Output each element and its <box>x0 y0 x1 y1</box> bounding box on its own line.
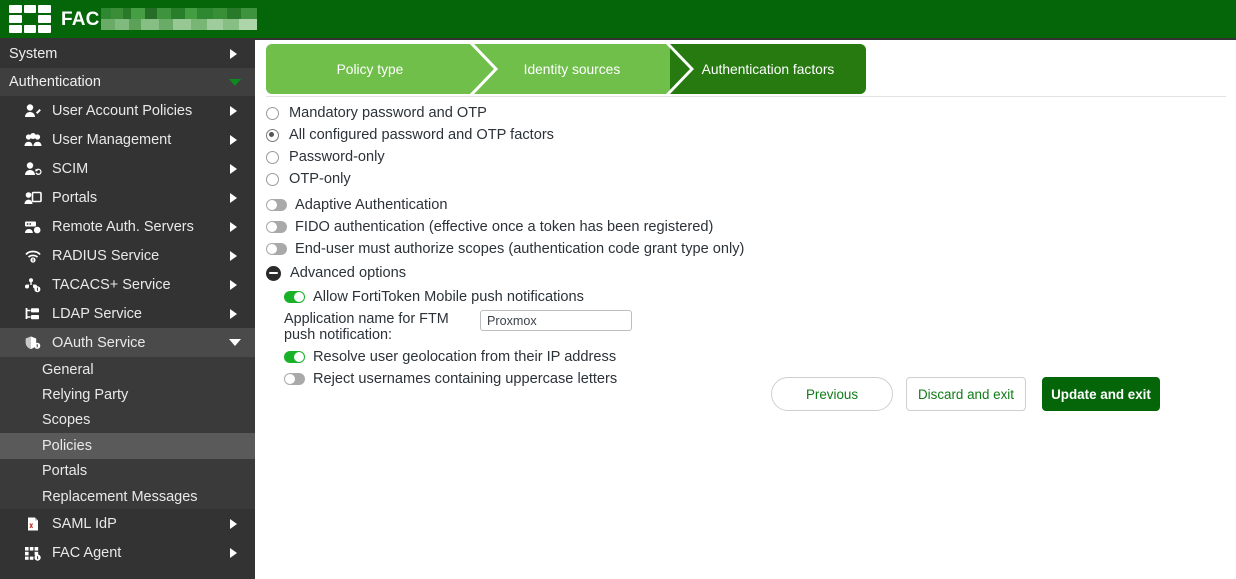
wizard-step-policy-type[interactable]: Policy type <box>266 44 474 94</box>
radius-icon <box>22 247 44 265</box>
wizard-steps: Policy type Identity sources Authenticat… <box>266 44 866 94</box>
chevron-down-icon <box>229 339 241 346</box>
ldap-icon <box>22 305 44 323</box>
sidebar-item-label: Remote Auth. Servers <box>52 219 194 235</box>
sidebar-item-label: TACACS+ Service <box>52 277 171 293</box>
chevron-right-icon <box>230 548 237 558</box>
radio-icon[interactable] <box>266 151 279 164</box>
previous-button[interactable]: Previous <box>771 377 893 411</box>
chevron-right-icon <box>230 309 237 319</box>
redacted-hostname <box>101 8 257 30</box>
sidebar-subitem-scopes[interactable]: Scopes <box>0 408 255 433</box>
sidebar-item-radius-service[interactable]: RADIUS Service <box>0 241 255 270</box>
radio-option-password-only[interactable]: Password-only <box>266 146 1226 168</box>
toggle-adaptive-authentication[interactable]: Adaptive Authentication <box>266 194 1226 216</box>
ftm-app-name-input[interactable] <box>480 310 632 331</box>
minus-circle-icon[interactable] <box>266 266 281 281</box>
toggle-allow-ftm-push[interactable]: Allow FortiToken Mobile push notificatio… <box>284 286 1226 308</box>
sidebar-subitem-label: General <box>42 362 94 378</box>
sidebar-item-label: LDAP Service <box>52 306 142 322</box>
toggle-label: Allow FortiToken Mobile push notificatio… <box>313 289 584 305</box>
toggle-label: FIDO authentication (effective once a to… <box>295 219 713 235</box>
discard-and-exit-button[interactable]: Discard and exit <box>906 377 1026 411</box>
radio-icon[interactable] <box>266 107 279 120</box>
ftm-app-name-label: Application name for FTM push notificati… <box>284 310 480 343</box>
sidebar-item-label: FAC Agent <box>52 545 121 561</box>
chevron-right-icon <box>230 280 237 290</box>
toggle-label: Adaptive Authentication <box>295 197 448 213</box>
logo-cell <box>9 25 22 33</box>
sidebar-item-saml-idp[interactable]: SAML IdP <box>0 509 255 538</box>
content-divider <box>266 96 1226 97</box>
toggle-end-user-authorize-scopes[interactable]: End-user must authorize scopes (authenti… <box>266 238 1226 260</box>
sidebar-item-user-account-policies[interactable]: User Account Policies <box>0 96 255 125</box>
radio-option-otp-only[interactable]: OTP-only <box>266 168 1226 190</box>
tacacs-icon <box>22 276 44 294</box>
sidebar-item-scim[interactable]: SCIM <box>0 154 255 183</box>
sidebar-item-label: System <box>9 46 57 62</box>
radio-option-label: Password-only <box>289 149 385 165</box>
toggle-switch-off-icon[interactable] <box>266 243 287 255</box>
chevron-right-icon <box>230 519 237 529</box>
authentication-factors-form: Mandatory password and OTP All configure… <box>266 102 1226 390</box>
ftm-app-name-row: Application name for FTM push notificati… <box>284 310 1226 346</box>
chevron-right-icon <box>230 164 237 174</box>
toggle-resolve-geolocation[interactable]: Resolve user geolocation from their IP a… <box>284 346 1226 368</box>
radio-option-all-configured-factors[interactable]: All configured password and OTP factors <box>266 124 1226 146</box>
grid-logo-icon[interactable] <box>9 5 51 33</box>
toggle-switch-off-icon[interactable] <box>266 221 287 233</box>
brand-title: FAC <box>61 10 100 29</box>
logo-cell <box>24 25 37 33</box>
sidebar-subitem-label: Policies <box>42 438 92 454</box>
sidebar-item-user-management[interactable]: User Management <box>0 125 255 154</box>
logo-cell <box>9 15 22 23</box>
step-separator-icon <box>470 44 500 94</box>
user-policy-icon <box>22 102 44 120</box>
app-header: FAC <box>0 0 1236 38</box>
advanced-options-label: Advanced options <box>290 265 406 281</box>
wizard-step-label: Policy type <box>337 62 404 77</box>
toggle-switch-off-icon[interactable] <box>284 373 305 385</box>
radio-option-mandatory-password-otp[interactable]: Mandatory password and OTP <box>266 102 1226 124</box>
sidebar-subitem-portals[interactable]: Portals <box>0 459 255 484</box>
logo-cell <box>24 5 37 13</box>
wizard-step-authentication-factors[interactable]: Authentication factors <box>670 44 866 94</box>
step-separator-icon <box>666 44 696 94</box>
form-actions: Previous Discard and exit Update and exi… <box>771 377 1171 411</box>
application-window: FAC System Authentication User Account P… <box>0 0 1236 579</box>
main-content: Policy type Identity sources Authenticat… <box>255 40 1236 579</box>
sidebar-item-ldap-service[interactable]: LDAP Service <box>0 299 255 328</box>
advanced-options-header[interactable]: Advanced options <box>266 261 1226 285</box>
sidebar-subitem-policies[interactable]: Policies <box>0 433 255 458</box>
sidebar-item-oauth-service[interactable]: OAuth Service <box>0 328 255 357</box>
sidebar-subitem-replacement-messages[interactable]: Replacement Messages <box>0 484 255 509</box>
radio-icon-checked[interactable] <box>266 129 279 142</box>
sidebar-item-label: RADIUS Service <box>52 248 159 264</box>
toggle-label: Resolve user geolocation from their IP a… <box>313 349 616 365</box>
server-icon <box>22 218 44 236</box>
chevron-right-icon <box>230 193 237 203</box>
radio-option-label: All configured password and OTP factors <box>289 127 554 143</box>
user-sync-icon <box>22 160 44 178</box>
toggle-fido-authentication[interactable]: FIDO authentication (effective once a to… <box>266 216 1226 238</box>
sidebar-subitem-label: Portals <box>42 463 87 479</box>
wizard-step-label: Identity sources <box>524 62 621 77</box>
chevron-right-icon <box>230 49 237 59</box>
sidebar-subitem-label: Scopes <box>42 412 90 428</box>
sidebar-item-label: Authentication <box>9 74 101 90</box>
sidebar-item-remote-auth-servers[interactable]: Remote Auth. Servers <box>0 212 255 241</box>
oauth-submenu: General Relying Party Scopes Policies Po… <box>0 357 255 509</box>
chevron-right-icon <box>230 106 237 116</box>
sidebar-item-label: SCIM <box>52 161 88 177</box>
toggle-switch-on-icon[interactable] <box>284 351 305 363</box>
sidebar-subitem-label: Relying Party <box>42 387 128 403</box>
chevron-right-icon <box>230 222 237 232</box>
radio-option-label: Mandatory password and OTP <box>289 105 487 121</box>
logo-cell <box>38 25 51 33</box>
sidebar-item-fac-agent[interactable]: FAC Agent <box>0 538 255 567</box>
fac-agent-icon <box>22 544 44 562</box>
logo-cell <box>9 5 22 13</box>
sidebar-subitem-relying-party[interactable]: Relying Party <box>0 382 255 407</box>
oauth-shield-icon <box>22 334 44 352</box>
portal-icon <box>22 189 44 207</box>
toggle-label: End-user must authorize scopes (authenti… <box>295 241 744 257</box>
advanced-options-body: Allow FortiToken Mobile push notificatio… <box>284 286 1226 390</box>
sidebar-item-label: OAuth Service <box>52 335 146 351</box>
toggle-switch-off-icon[interactable] <box>266 199 287 211</box>
update-and-exit-button[interactable]: Update and exit <box>1042 377 1160 411</box>
wizard-step-label: Authentication factors <box>702 62 835 77</box>
logo-cell <box>38 5 51 13</box>
saml-doc-icon <box>22 515 44 533</box>
sidebar-item-authentication[interactable]: Authentication <box>0 68 255 96</box>
chevron-down-icon <box>229 79 241 86</box>
sidebar-subitem-general[interactable]: General <box>0 357 255 382</box>
sidebar-item-label: User Management <box>52 132 171 148</box>
radio-option-label: OTP-only <box>289 171 351 187</box>
sidebar-item-label: SAML IdP <box>52 516 117 532</box>
users-icon <box>22 131 44 149</box>
toggle-label: Reject usernames containing uppercase le… <box>313 371 617 387</box>
logo-cell <box>38 15 51 23</box>
sidebar-item-system[interactable]: System <box>0 40 255 68</box>
sidebar-subitem-label: Replacement Messages <box>42 489 198 505</box>
logo-cell-blank <box>24 15 37 23</box>
toggle-switch-on-icon[interactable] <box>284 291 305 303</box>
sidebar-navigation: System Authentication User Account Polic… <box>0 40 255 579</box>
wizard-step-identity-sources[interactable]: Identity sources <box>474 44 670 94</box>
sidebar-item-portals[interactable]: Portals <box>0 183 255 212</box>
chevron-right-icon <box>230 251 237 261</box>
radio-icon[interactable] <box>266 173 279 186</box>
sidebar-item-tacacs-service[interactable]: TACACS+ Service <box>0 270 255 299</box>
sidebar-item-label: User Account Policies <box>52 103 192 119</box>
chevron-right-icon <box>230 135 237 145</box>
sidebar-item-label: Portals <box>52 190 97 206</box>
